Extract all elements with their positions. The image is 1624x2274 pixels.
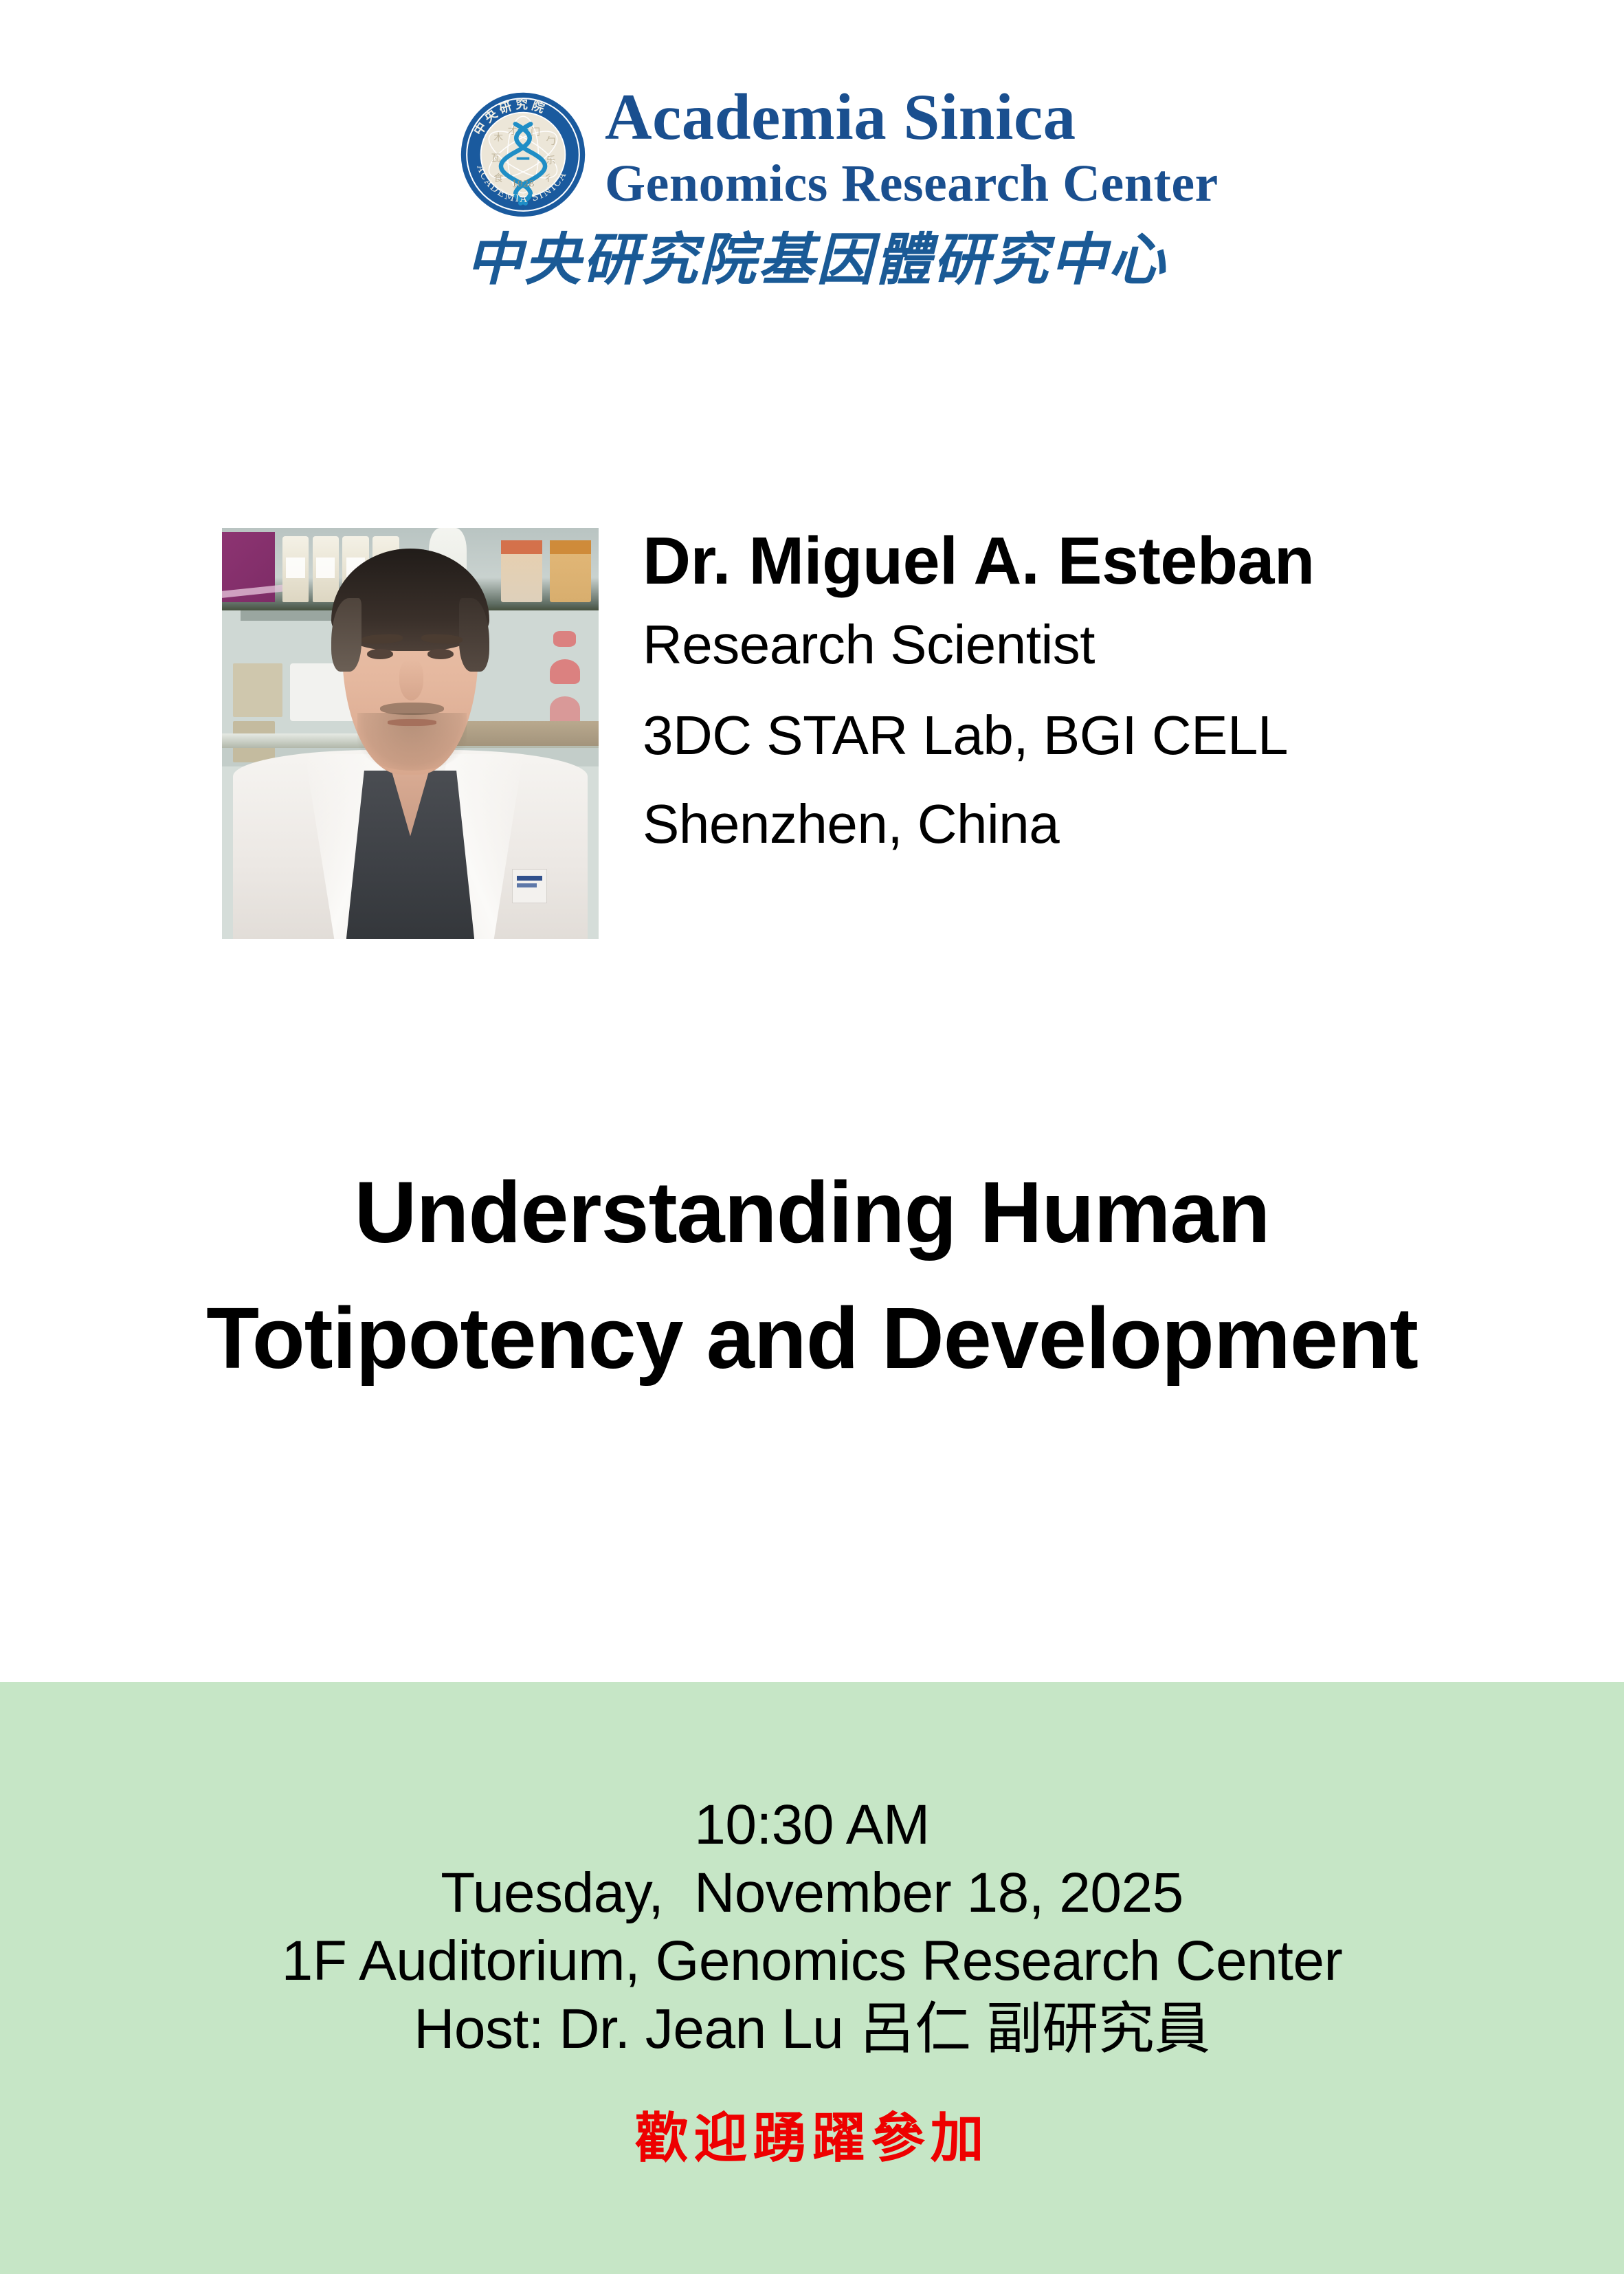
event-details-band: 10:30 AM Tuesday, November 18, 2025 1F A… xyxy=(0,1682,1624,2274)
welcome-note: 歡迎踴躍參加 xyxy=(0,2107,1624,2170)
svg-text:瓦: 瓦 xyxy=(491,153,501,164)
svg-text:木: 木 xyxy=(493,133,503,144)
org-center-name: Genomics Research Center xyxy=(605,153,1188,214)
org-name-english: Academia Sinica xyxy=(605,81,1188,153)
svg-text:门: 门 xyxy=(531,127,540,138)
speaker-block: Dr. Miguel A. Esteban Research Scientist… xyxy=(222,528,1390,940)
speaker-name: Dr. Miguel A. Esteban xyxy=(643,522,1392,599)
speaker-affiliation-line-1: 3DC STAR Lab, BGI CELL xyxy=(643,690,1392,781)
academia-sinica-seal-icon: 木才 门勹 瓦乐 食彳 彐 中央研究院 xyxy=(459,91,587,219)
svg-text:勹: 勹 xyxy=(546,136,555,147)
logo-wordmark: Academia Sinica Genomics Research Center xyxy=(605,81,1188,214)
svg-text:1928: 1928 xyxy=(511,179,534,190)
speaker-role: Research Scientist xyxy=(643,599,1392,690)
speaker-portrait-photo xyxy=(222,528,599,939)
talk-title-line-1: Understanding Human xyxy=(0,1149,1624,1275)
svg-text:乐: 乐 xyxy=(546,155,555,166)
talk-title: Understanding Human Totipotency and Deve… xyxy=(0,1149,1624,1401)
event-date: Tuesday, November 18, 2025 xyxy=(0,1859,1624,1927)
academia-sinica-grc-logo: 木才 门勹 瓦乐 食彳 彐 中央研究院 xyxy=(459,81,1188,301)
talk-title-line-2: Totipotency and Development xyxy=(0,1275,1624,1401)
event-venue: 1F Auditorium, Genomics Research Center xyxy=(0,1927,1624,1995)
seminar-poster: 木才 门勹 瓦乐 食彳 彐 中央研究院 xyxy=(0,0,1624,2274)
speaker-details: Dr. Miguel A. Esteban Research Scientist… xyxy=(643,522,1392,868)
speaker-affiliation-line-2: Shenzhen, China xyxy=(643,781,1392,868)
event-details-lines: 10:30 AM Tuesday, November 18, 2025 1F A… xyxy=(0,1791,1624,2063)
event-time: 10:30 AM xyxy=(0,1791,1624,1859)
org-name-chinese: 中央研究院基因體研究中心 xyxy=(466,227,1181,293)
event-host: Host: Dr. Jean Lu 呂仁 副研究員 xyxy=(0,1995,1624,2063)
